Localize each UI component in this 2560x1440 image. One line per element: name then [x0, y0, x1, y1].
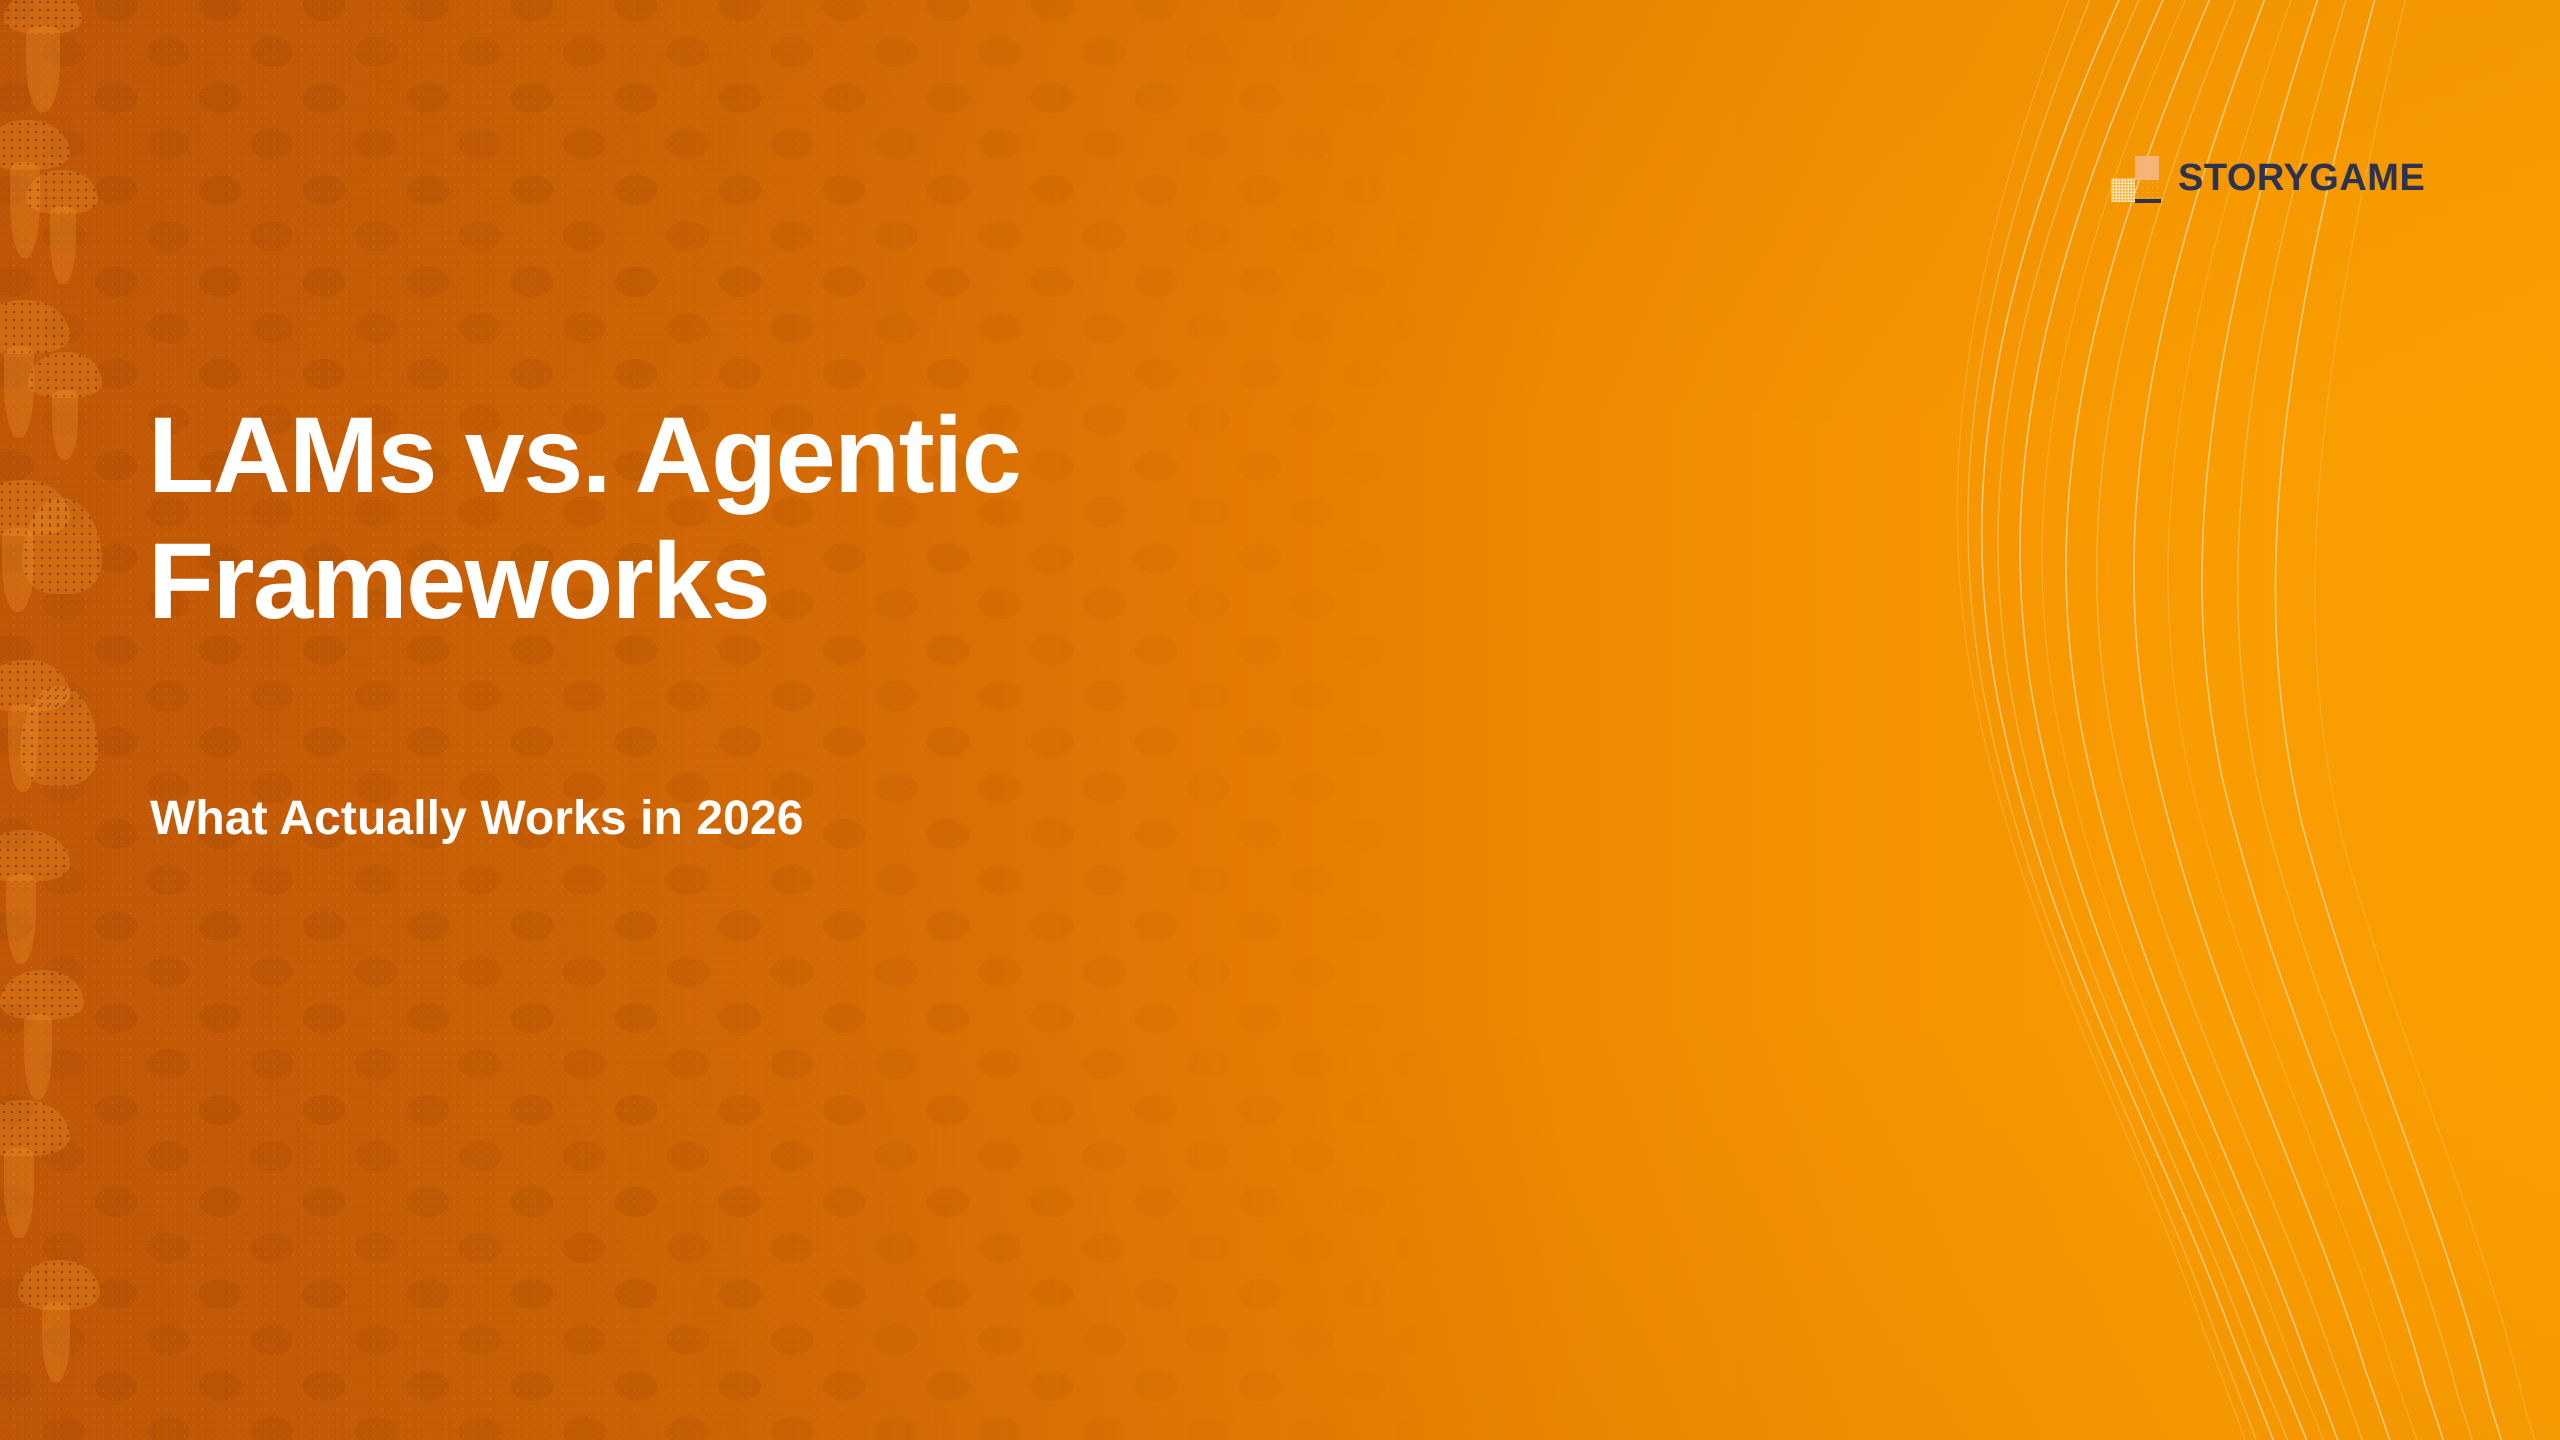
- speckled-organic-shapes-icon: [0, 0, 120, 1440]
- logo-square-white-icon: [2111, 178, 2135, 202]
- logo-square-peach-icon: [2135, 156, 2159, 180]
- squares-logo-mark-icon: [2108, 153, 2160, 203]
- logo-bar-icon: [2135, 199, 2161, 203]
- logo-square-dotted-icon: [2135, 180, 2159, 200]
- title-slide: LAMs vs. Agentic Frameworks What Actuall…: [0, 0, 2560, 1440]
- brand-logo[interactable]: STORYGAME: [2108, 150, 2425, 206]
- brand-name: STORYGAME: [2178, 159, 2425, 197]
- hero-text-block: LAMs vs. Agentic Frameworks What Actuall…: [148, 0, 1648, 1440]
- page-title: LAMs vs. Agentic Frameworks: [148, 392, 1468, 645]
- page-subtitle: What Actually Works in 2026: [150, 790, 804, 848]
